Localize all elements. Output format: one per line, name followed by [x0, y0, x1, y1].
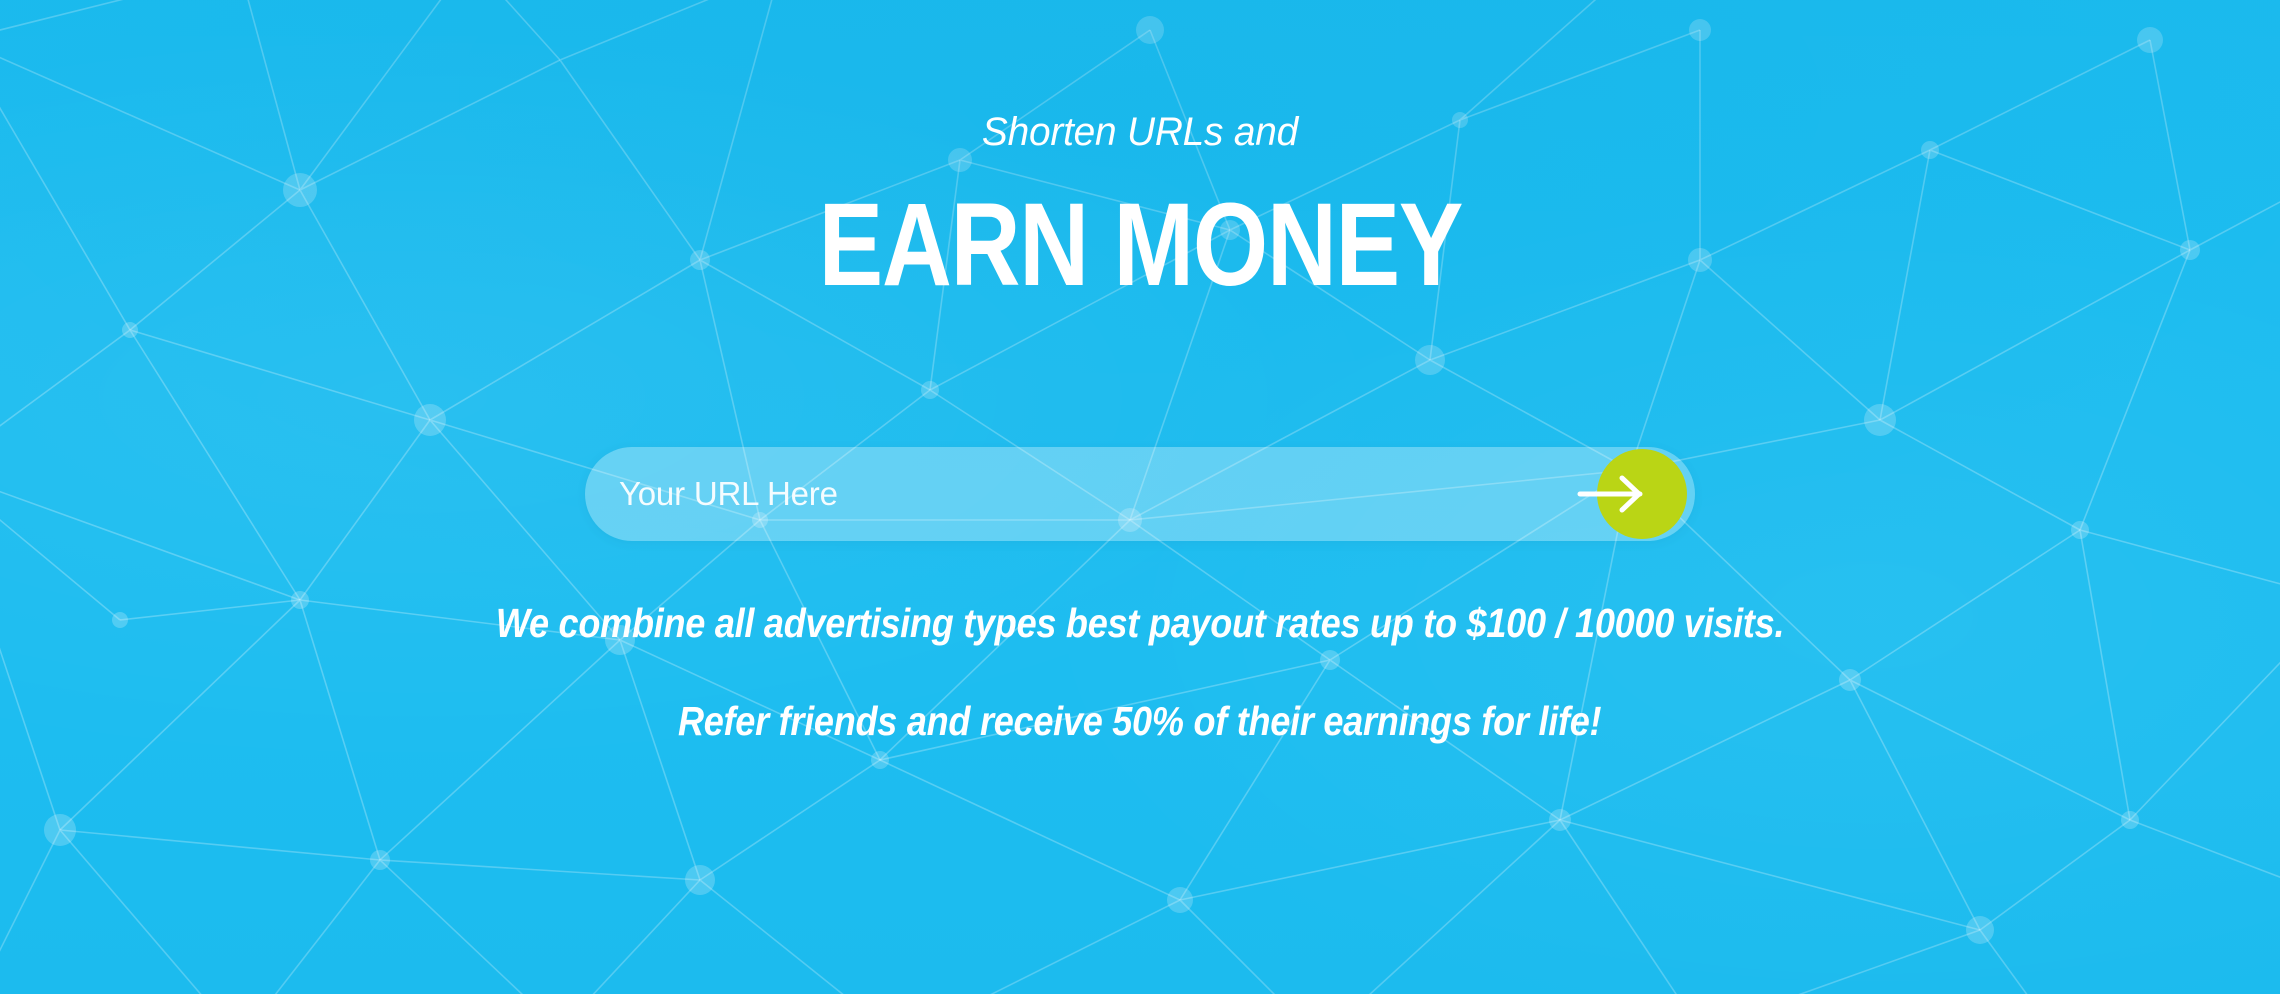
hero-tagline-referral: Refer friends and receive 50% of their e… — [678, 701, 1601, 742]
url-shorten-form — [585, 447, 1695, 541]
hero-headline: EARN MONEY — [818, 186, 1462, 304]
hero-eyebrow: Shorten URLs and — [982, 112, 1298, 152]
submit-url-button[interactable] — [1597, 449, 1687, 539]
hero-tagline-payout: We combine all advertising types best pa… — [496, 603, 1784, 644]
arrow-right-icon — [1578, 472, 1650, 516]
hero-banner: Shorten URLs and EARN MONEY We combine a… — [0, 0, 2280, 994]
hero-content: Shorten URLs and EARN MONEY We combine a… — [0, 0, 2280, 994]
url-input[interactable] — [619, 447, 1595, 541]
